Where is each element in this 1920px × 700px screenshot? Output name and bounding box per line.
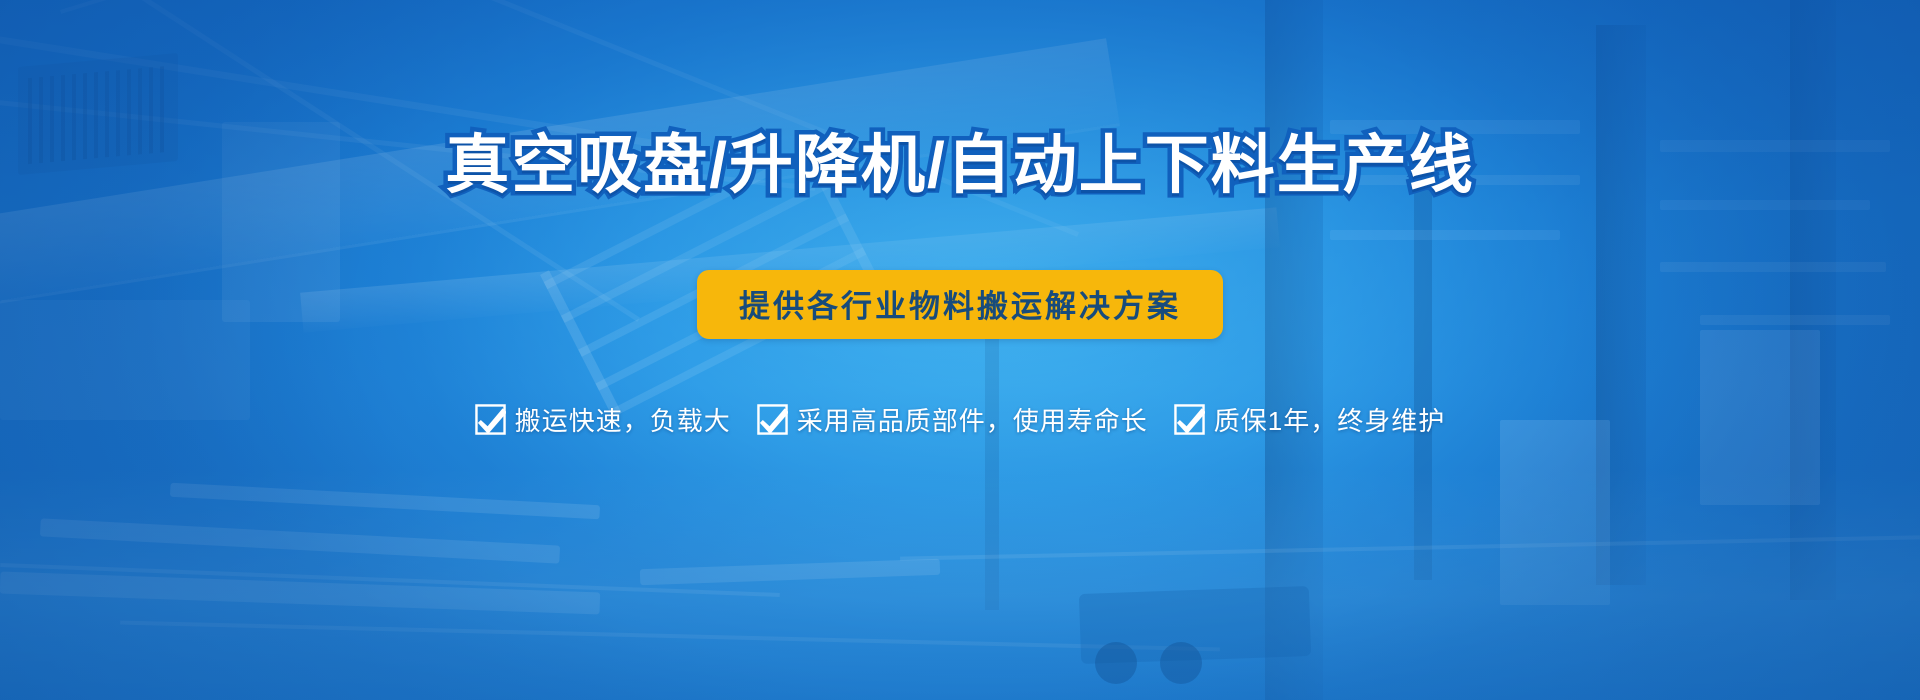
feature-item: 采用高品质部件，使用寿命长	[757, 401, 1148, 438]
checkbox-checked-icon	[475, 404, 506, 435]
feature-label: 采用高品质部件，使用寿命长	[797, 401, 1148, 438]
checkbox-checked-icon	[757, 404, 788, 435]
feature-label: 质保1年，终身维护	[1214, 401, 1445, 438]
feature-item: 搬运快速，负载大	[475, 401, 731, 438]
banner-subtitle-pill: 提供各行业物料搬运解决方案	[697, 270, 1223, 339]
feature-list: 搬运快速，负载大 采用高品质部件，使用寿命长 质保1年，终身维护	[475, 401, 1446, 438]
checkbox-checked-icon	[1174, 404, 1205, 435]
banner-content: 真空吸盘/升降机/自动上下料生产线 提供各行业物料搬运解决方案 搬运快速，负载大…	[0, 0, 1920, 700]
feature-label: 搬运快速，负载大	[515, 401, 731, 438]
hero-banner: 真空吸盘/升降机/自动上下料生产线 提供各行业物料搬运解决方案 搬运快速，负载大…	[0, 0, 1920, 700]
banner-headline: 真空吸盘/升降机/自动上下料生产线	[445, 133, 1475, 197]
feature-item: 质保1年，终身维护	[1174, 401, 1445, 438]
